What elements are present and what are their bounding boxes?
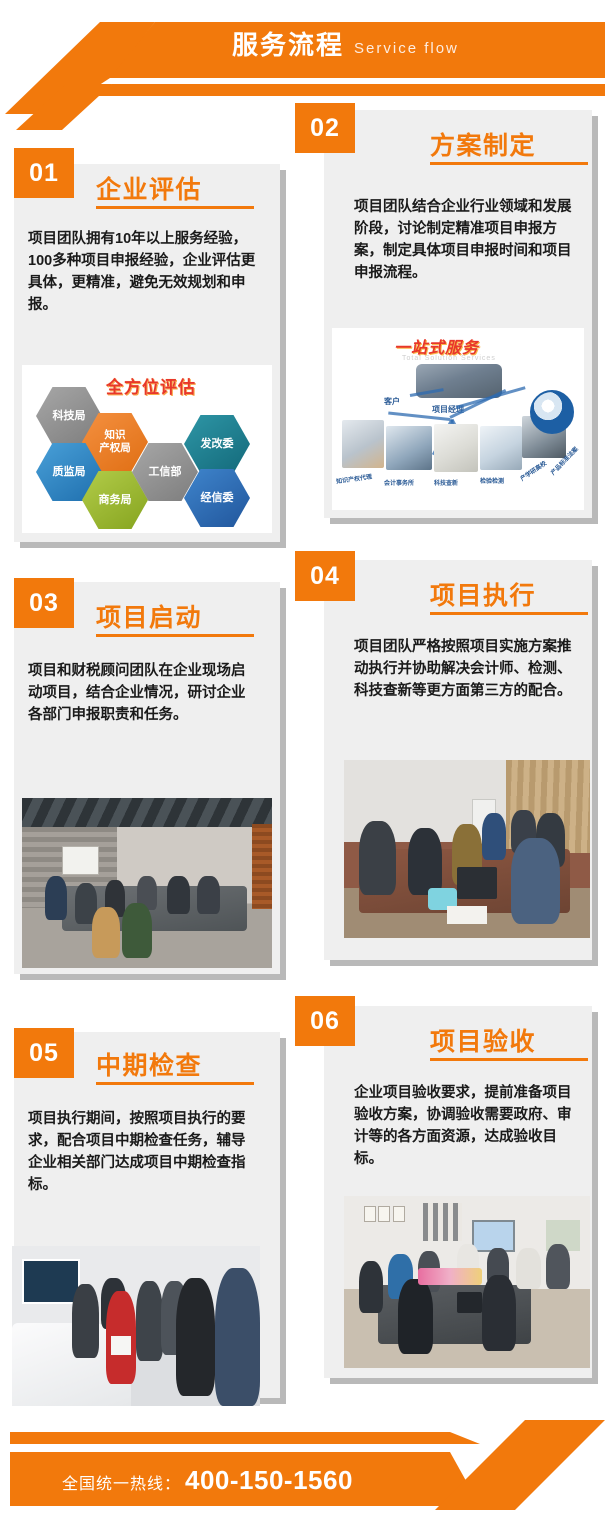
card-body-5: 项目执行期间，按照项目执行的要求，配合项目中期检查任务，辅导企业相关部门达成项目… [28, 1108, 256, 1196]
card-body-3: 项目和财税顾问团队在企业现场启动项目，结合企业情况，研讨企业各部门申报职责和任务… [28, 660, 256, 726]
photo-person [122, 903, 152, 957]
card-number-badge-6: 06 [295, 996, 355, 1046]
onestop-diagram-subtitle: Total Solution Services [402, 355, 496, 362]
onestop-node-label-accounting: 会计事务所 [384, 478, 414, 487]
photo-person [511, 838, 560, 923]
hexagon-node-label: 经信委 [201, 492, 234, 505]
hexagon-node-label: 质监局 [53, 466, 86, 479]
photo-projector-screen [472, 1220, 515, 1252]
card-body-6: 企业项目验收要求，提前准备项目验收方案，协调验收需要政府、审计等的各方面资源，达… [354, 1082, 584, 1170]
card-number-badge-5: 05 [14, 1028, 74, 1078]
card-title-3: 项目启动 [96, 598, 202, 634]
photo-certificate-frame [364, 1206, 376, 1222]
hotline-number[interactable]: 400-150-1560 [185, 1465, 353, 1496]
onestop-hub-label-customer: 客户 [384, 396, 400, 407]
hotline-group: 全国统一热线： 400-150-1560 [62, 1465, 353, 1496]
card-title-2: 方案制定 [430, 126, 536, 162]
onestop-node-label-university: 产学研高校 [518, 458, 548, 482]
photo-person [197, 876, 220, 913]
card-photo-6 [344, 1196, 590, 1368]
photo-laptop [457, 867, 496, 899]
card-title-4: 项目执行 [430, 576, 536, 612]
card-title-6: 项目验收 [430, 1022, 536, 1058]
photo-certificate-frame [393, 1206, 405, 1222]
photo-person [176, 1278, 216, 1396]
photo-scene-meeting-room [22, 798, 272, 968]
photo-brochure [111, 1336, 131, 1355]
card-number-badge-2: 02 [295, 103, 355, 153]
photo-person [408, 828, 442, 896]
hexagon-diagram-title: 全方位评估 [106, 373, 196, 398]
hexagon-node-fagaiwei: 发改委 [184, 415, 250, 473]
page-title: 服务流程 [232, 30, 344, 60]
card-title-rule-1 [96, 206, 254, 209]
hexagon-diagram: 全方位评估 科技局 知识 产权局 质监局 商务局 工信部 发改委 经信委 [22, 365, 272, 533]
card-title-1: 企业评估 [96, 170, 202, 206]
page-subtitle: Service flow [354, 38, 459, 60]
photo-whiteboard [62, 846, 99, 875]
hexagon-node-label: 商务局 [99, 494, 132, 507]
photo-display-screen [22, 1259, 81, 1305]
hexagon-node-label: 发改委 [201, 438, 234, 451]
card-photo-4 [344, 760, 590, 938]
onestop-node-accounting [386, 426, 432, 470]
page-header: 服务流程 Service flow [0, 0, 605, 112]
photo-person [359, 821, 396, 896]
photo-person [215, 1268, 260, 1406]
card-title-rule-3 [96, 634, 254, 637]
photo-scene-acceptance-review [344, 1196, 590, 1368]
photo-laptop [457, 1292, 482, 1313]
photo-ceiling [22, 798, 272, 827]
header-title-group: 服务流程 Service flow [232, 30, 459, 60]
photo-person [45, 876, 68, 920]
card-number-badge-1: 01 [14, 148, 74, 198]
photo-person [167, 876, 190, 913]
photo-certificate-wall [423, 1203, 462, 1241]
photo-scene-working-meeting [344, 760, 590, 938]
onestop-node-label-inspection: 检验检测 [480, 476, 504, 485]
onestop-node-label-tech-search: 科技查新 [434, 478, 458, 487]
photo-papers [447, 906, 486, 924]
card-body-4: 项目团队严格按照项目实施方案推动执行并协助解决会计师、检测、科技查新等更方面第三… [354, 636, 584, 702]
onestop-node-label-ip-agency: 知识产权代理 [336, 472, 373, 486]
card-photo-3 [22, 798, 272, 968]
photo-flowers [418, 1268, 482, 1285]
hexagon-node-label: 科技局 [53, 410, 86, 423]
card-title-rule-2 [430, 162, 588, 165]
onestop-certification-seal-icon [530, 390, 574, 434]
photo-person [516, 1248, 541, 1289]
onestop-node-inspection [480, 426, 522, 470]
card-photo-5 [12, 1246, 260, 1406]
photo-person [72, 1284, 99, 1358]
photo-person [546, 1244, 571, 1289]
hotline-label: 全国统一热线： [62, 1470, 181, 1494]
hexagon-node-label: 知识 产权局 [99, 429, 131, 455]
card-number-badge-3: 03 [14, 578, 74, 628]
photo-person [482, 1275, 516, 1351]
onestop-node-ip-agency [342, 420, 384, 468]
card-title-rule-6 [430, 1058, 588, 1061]
photo-person [398, 1279, 432, 1355]
card-title-5: 中期检查 [96, 1046, 202, 1082]
photo-person [92, 907, 120, 958]
card-number-badge-4: 04 [295, 551, 355, 601]
hexagon-node-label: 工信部 [149, 466, 182, 479]
page-footer: 全国统一热线： 400-150-1560 [0, 1420, 605, 1538]
photo-certificate-frame [378, 1206, 390, 1222]
card-body-2: 项目团队结合企业行业领域和发展阶段，讨论制定精准项目申报方案，制定具体项目申报时… [354, 196, 584, 284]
photo-wood-panel [252, 824, 272, 909]
photo-person [359, 1261, 384, 1313]
photo-person [482, 813, 507, 859]
onestop-service-diagram: 一站式服务 Total Solution Services 客户 项目经理 知识… [332, 328, 584, 510]
photo-scene-showroom-tour [12, 1246, 260, 1406]
card-body-1: 项目团队拥有10年以上服务经验，100多种项目申报经验，企业评估更具体，更精准，… [28, 228, 256, 316]
card-title-rule-4 [430, 612, 588, 615]
photo-person [136, 1281, 163, 1361]
onestop-node-tech-search [434, 424, 478, 472]
card-title-rule-5 [96, 1082, 254, 1085]
